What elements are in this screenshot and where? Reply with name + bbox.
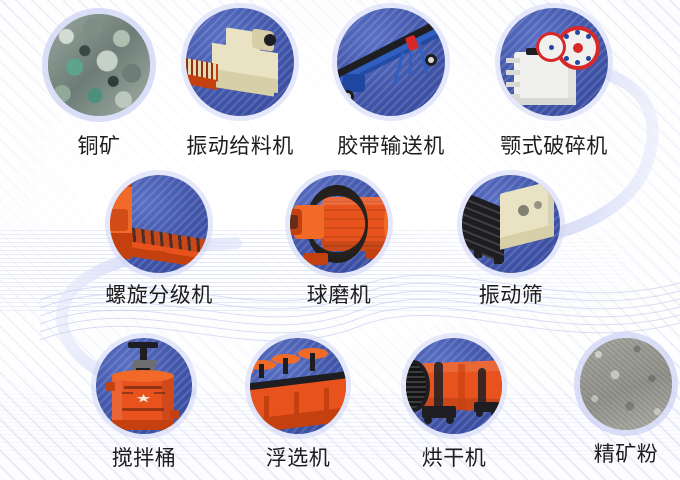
jaw-crusher-illustration — [500, 8, 608, 116]
flotation-machine-disc — [250, 338, 346, 434]
node-label-jaw-crusher: 颚式破碎机 — [478, 136, 630, 157]
copper-ore-photo — [48, 14, 150, 116]
copper-ore-texture — [48, 14, 150, 116]
process-flow-diagram: 铜矿 振动给料机 — [0, 0, 680, 480]
node-label-rotary-dryer: 烘干机 — [390, 448, 518, 469]
node-label-concentrate-powder: 精矿粉 — [562, 444, 680, 465]
ball-mill-illustration — [290, 175, 388, 273]
vibrating-screen-disc — [462, 175, 560, 273]
node-label-vibrating-feeder: 振动给料机 — [164, 136, 316, 157]
vibrating-feeder-illustration — [186, 8, 294, 116]
agitation-tank-disc — [96, 338, 192, 434]
spiral-classifier-illustration — [110, 175, 208, 273]
node-label-belt-conveyor: 胶带输送机 — [315, 136, 467, 157]
agitation-tank-illustration — [96, 338, 192, 434]
vibrating-feeder-disc — [186, 8, 294, 116]
belt-conveyor-illustration — [337, 8, 445, 116]
vibrating-screen-illustration — [462, 175, 560, 273]
node-label-vibrating-screen: 振动筛 — [445, 285, 577, 306]
concentrate-powder-texture — [580, 338, 672, 430]
belt-conveyor-disc — [337, 8, 445, 116]
jaw-crusher-disc — [500, 8, 608, 116]
flotation-machine-illustration — [250, 338, 346, 434]
rotary-dryer-illustration — [406, 338, 502, 434]
node-label-agitation-tank: 搅拌桶 — [80, 448, 208, 469]
node-label-flotation-machine: 浮选机 — [234, 448, 362, 469]
spiral-classifier-disc — [110, 175, 208, 273]
node-label-spiral-classifier: 螺旋分级机 — [82, 285, 236, 306]
rotary-dryer-disc — [406, 338, 502, 434]
node-label-ball-mill: 球磨机 — [274, 285, 404, 306]
concentrate-powder-photo — [580, 338, 672, 430]
ball-mill-disc — [290, 175, 388, 273]
node-label-copper-ore: 铜矿 — [29, 136, 169, 157]
